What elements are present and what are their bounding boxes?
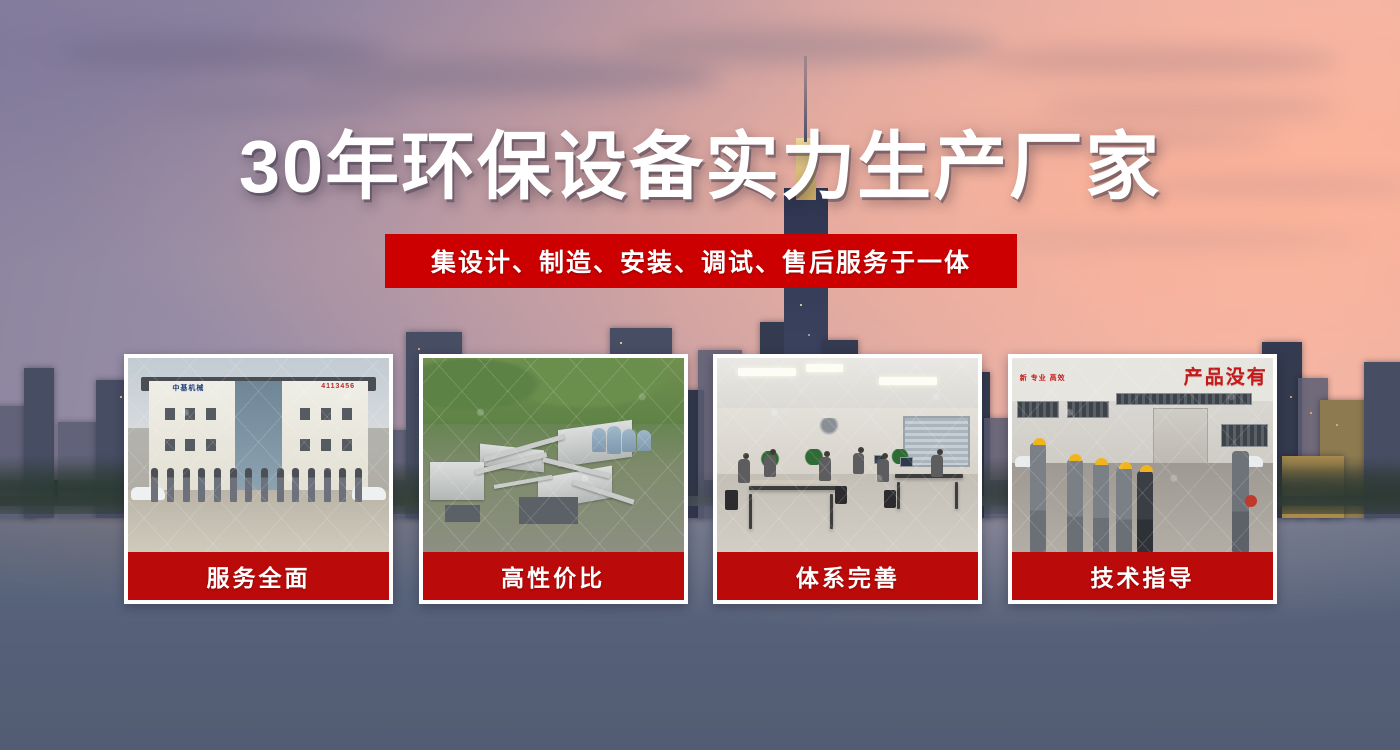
card-caption: 体系完善 [717,552,978,600]
promo-banner: 30年环保设备实力生产厂家 集设计、制造、安装、调试、售后服务于一体 中基机械 … [0,0,1400,750]
cloud-shape [620,28,1000,64]
card-caption: 高性价比 [423,552,684,600]
card-caption: 服务全面 [128,552,389,600]
feature-card[interactable]: 高性价比 [419,354,688,604]
feature-card-list: 中基机械 4113456 [124,354,1277,604]
feature-card[interactable]: 产品没有 新 专业 高效 [1008,354,1277,604]
building-sign-text: 中基机械 [172,383,204,393]
card-photo-office-interior [717,358,978,552]
cloud-shape [1040,96,1340,120]
page-title: 30年环保设备实力生产厂家 [0,126,1400,207]
cloud-shape [300,56,720,96]
factory-slogan-small-text: 新 专业 高效 [1020,374,1066,383]
card-caption: 技术指导 [1012,552,1273,600]
subtitle-banner: 集设计、制造、安装、调试、售后服务于一体 [385,234,1017,288]
subtitle-text: 集设计、制造、安装、调试、售后服务于一体 [431,243,971,279]
card-photo-workers-factory: 产品没有 新 专业 高效 [1012,358,1273,552]
factory-slogan-text: 产品没有 [1184,362,1268,389]
cloud-shape [150,94,410,114]
card-photo-industrial-plant [423,358,684,552]
building-phone-text: 4113456 [321,383,355,390]
feature-card[interactable]: 体系完善 [713,354,982,604]
feature-card[interactable]: 中基机械 4113456 [124,354,393,604]
cloud-shape [980,46,1340,76]
card-photo-headquarters: 中基机械 4113456 [128,358,389,552]
